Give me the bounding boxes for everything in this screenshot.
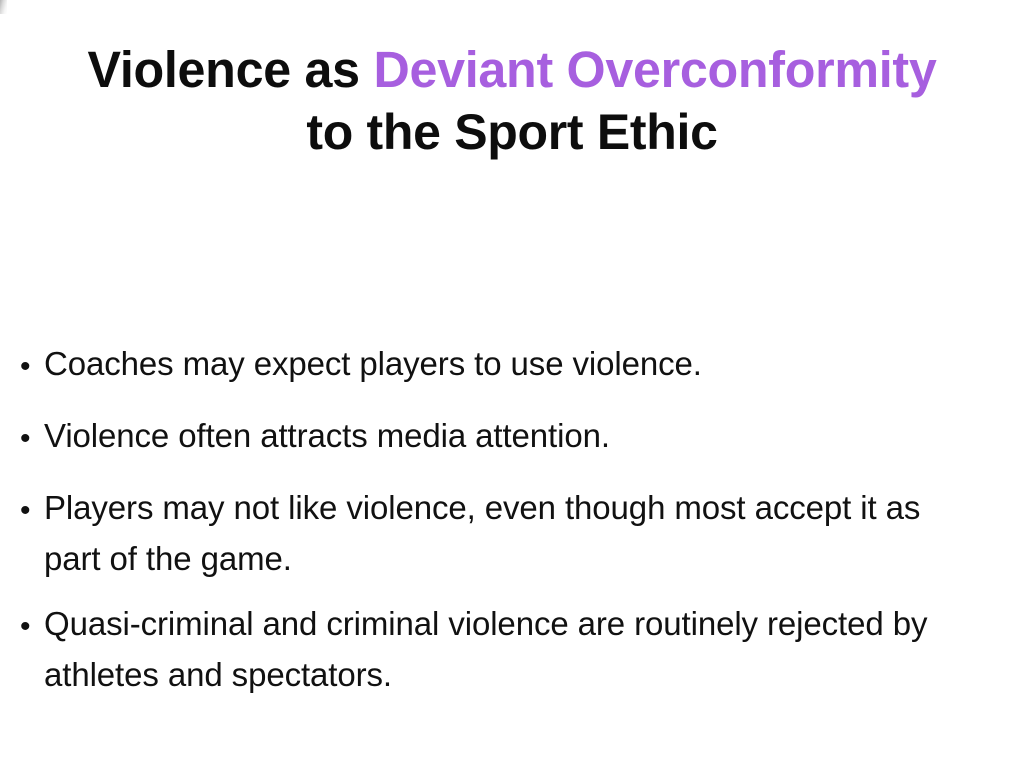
slide-canvas: Violence as Deviant Overconformity to th…: [0, 0, 1024, 768]
list-item: • Coaches may expect players to use viol…: [0, 338, 1024, 396]
scan-artifact-icon: [0, 0, 7, 14]
list-item-text: Players may not like violence, even thou…: [44, 482, 1024, 584]
bullet-point-icon: •: [0, 598, 44, 656]
list-item: • Violence often attracts media attentio…: [0, 410, 1024, 468]
bullet-point-icon: •: [0, 338, 44, 396]
bullet-point-icon: •: [0, 410, 44, 468]
list-item-text: Violence often attracts media attention.: [44, 410, 1024, 461]
bullet-point-icon: •: [0, 482, 44, 540]
title-line-1-prefix: Violence as: [88, 41, 374, 98]
bullet-list: • Coaches may expect players to use viol…: [0, 338, 1024, 714]
list-item-text: Coaches may expect players to use violen…: [44, 338, 1024, 389]
title-line-1-accent: Deviant Overconformity: [373, 41, 936, 98]
page-title: Violence as Deviant Overconformity to th…: [0, 44, 1024, 158]
list-item-text: Quasi-criminal and criminal violence are…: [44, 598, 1024, 700]
list-item: • Players may not like violence, even th…: [0, 482, 1024, 584]
title-line-1: Violence as Deviant Overconformity: [8, 44, 1017, 96]
list-item: • Quasi-criminal and criminal violence a…: [0, 598, 1024, 700]
title-line-2: to the Sport Ethic: [0, 107, 1024, 158]
